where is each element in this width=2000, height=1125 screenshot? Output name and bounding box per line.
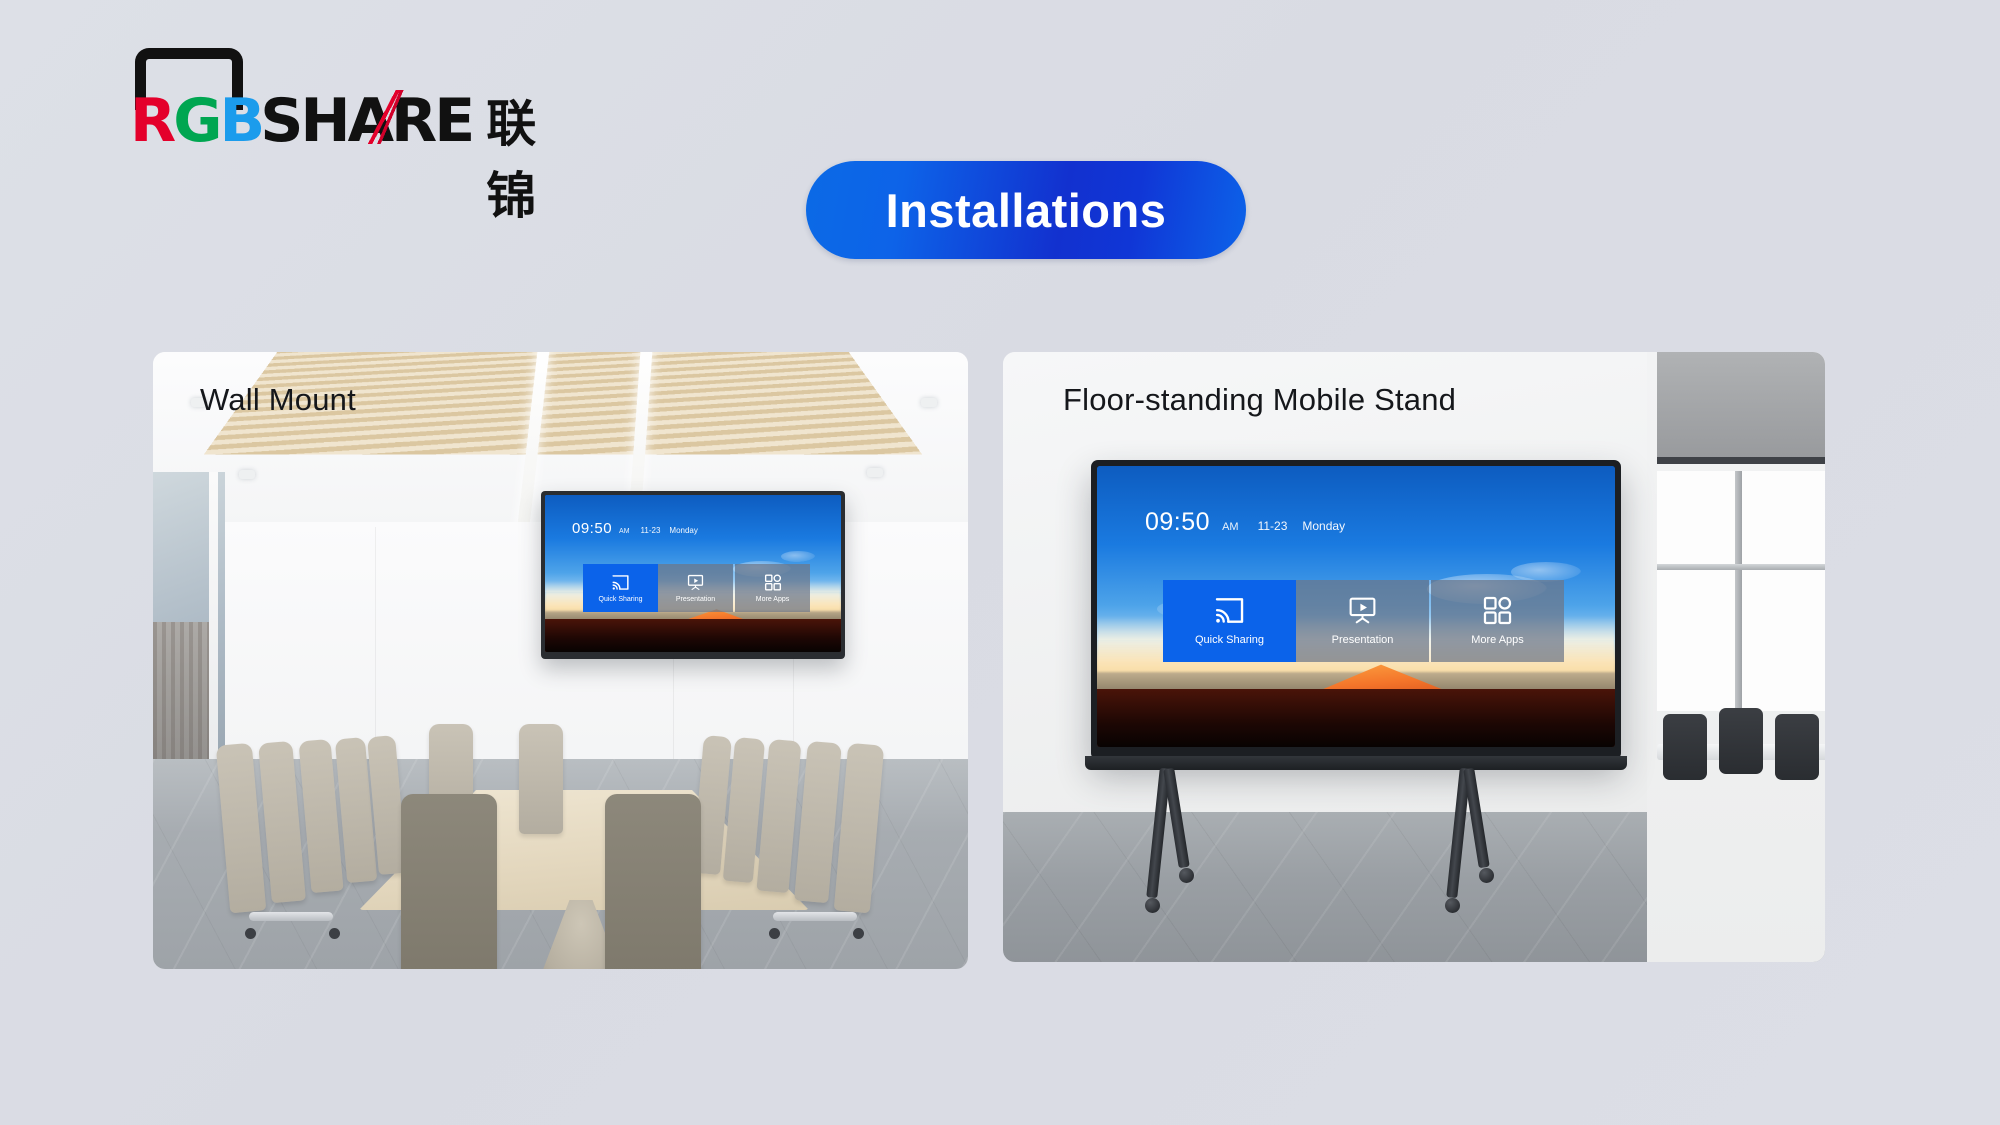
cloud: [1511, 562, 1581, 582]
caster: [329, 928, 340, 939]
clock-ampm: AM: [619, 528, 630, 535]
status-clock: 09:50 AM 11-23 Monday: [572, 520, 698, 537]
caster: [853, 928, 864, 939]
window-mullion-vertical: [1735, 471, 1742, 711]
caster-wheel: [1479, 868, 1494, 883]
downlight: [921, 398, 937, 407]
chair-foreground: [605, 794, 701, 969]
panel-wall-mount: 09:50 AM 11-23 Monday: [153, 352, 968, 969]
tile-quick-sharing[interactable]: Quick Sharing: [583, 564, 658, 612]
canyon-shadow: [545, 619, 841, 652]
status-clock: 09:50 AM 11-23 Monday: [1145, 508, 1345, 537]
tile-label: Presentation: [1332, 634, 1394, 646]
logo-letter-b: B: [219, 86, 262, 156]
caster-wheel: [1145, 898, 1160, 913]
slide-root: R G B SHARE 联锦 Installations: [0, 0, 2000, 1125]
downlight: [239, 470, 255, 479]
apps-grid-icon: [764, 574, 782, 591]
chair: [1663, 714, 1707, 780]
page-title-pill: Installations: [806, 161, 1246, 259]
downlight: [867, 468, 883, 477]
tile-more-apps[interactable]: More Apps: [1431, 580, 1564, 662]
chair-foreground: [401, 794, 497, 969]
clock-date: 11-23: [1258, 519, 1288, 533]
chair: [1719, 708, 1763, 774]
display-screen: 09:50 AM 11-23 Monday: [545, 495, 841, 652]
panel-floor-standing: 09:50 AM 11-23 Monday: [1003, 352, 1825, 962]
canyon-shadow: [1097, 689, 1615, 747]
launcher-ui-large: 09:50 AM 11-23 Monday: [1097, 466, 1615, 747]
caster-wheel: [1179, 868, 1194, 883]
tile-label: More Apps: [756, 596, 789, 603]
wall-mounted-display: 09:50 AM 11-23 Monday: [541, 491, 845, 659]
caster: [245, 928, 256, 939]
floor-standing-scene: 09:50 AM 11-23 Monday: [1003, 352, 1825, 962]
logo-share-text: SHARE: [260, 86, 472, 156]
tile-label: Presentation: [676, 596, 715, 603]
launcher-ui-small: 09:50 AM 11-23 Monday: [545, 495, 841, 652]
brand-logo: R G B SHARE 联锦: [130, 48, 510, 133]
chair: [519, 724, 563, 834]
logo-letter-g: G: [173, 86, 219, 156]
stand-mounted-display: 09:50 AM 11-23 Monday: [1091, 460, 1621, 760]
launcher-tiles-large: Quick Sharing: [1163, 580, 1564, 662]
clock-ampm: AM: [1222, 521, 1239, 533]
tile-more-apps[interactable]: More Apps: [735, 564, 810, 612]
tile-label: More Apps: [1471, 634, 1524, 646]
cloud: [781, 551, 815, 562]
apps-grid-icon: [1482, 596, 1513, 625]
label-floor-standing: Floor-standing Mobile Stand: [1063, 382, 1456, 418]
tile-label: Quick Sharing: [1195, 634, 1264, 646]
caster: [769, 928, 780, 939]
chair-base: [773, 912, 857, 921]
clock-time: 09:50: [572, 520, 612, 537]
clock-time: 09:50: [1145, 508, 1210, 537]
tile-quick-sharing[interactable]: Quick Sharing: [1163, 580, 1296, 662]
wall-mount-scene: 09:50 AM 11-23 Monday: [153, 352, 968, 969]
page-title: Installations: [886, 183, 1167, 238]
window-mullion-horizontal: [1657, 564, 1825, 570]
clock-weekday: Monday: [669, 526, 697, 535]
tile-presentation[interactable]: Presentation: [1296, 580, 1429, 662]
clock-date: 11-23: [641, 526, 661, 535]
screen-cast-icon: [1213, 596, 1246, 625]
chair-base: [249, 912, 333, 921]
screen-cast-icon: [611, 574, 630, 591]
window-blind: [1657, 352, 1825, 464]
launcher-tiles-small: Quick Sharing: [583, 564, 810, 612]
logo-wordmark: R G B SHARE 联锦: [130, 84, 536, 228]
window: [1657, 471, 1825, 711]
caster-wheel: [1445, 898, 1460, 913]
clock-weekday: Monday: [1302, 519, 1345, 533]
tile-presentation[interactable]: Presentation: [658, 564, 733, 612]
display-screen: 09:50 AM 11-23 Monday: [1097, 466, 1615, 747]
projector-play-icon: [686, 574, 705, 591]
installation-panels: 09:50 AM 11-23 Monday: [0, 352, 2000, 972]
chair: [1775, 714, 1819, 780]
logo-letter-r: R: [130, 86, 173, 156]
label-wall-mount: Wall Mount: [200, 382, 356, 418]
projector-play-icon: [1346, 596, 1379, 625]
logo-rgb-text: R G B: [130, 86, 262, 156]
logo-share-label: SHARE: [260, 86, 472, 156]
secondary-room-photo: [1647, 352, 1825, 962]
tile-label: Quick Sharing: [599, 596, 643, 603]
logo-chinese-text: 联锦: [486, 84, 536, 228]
